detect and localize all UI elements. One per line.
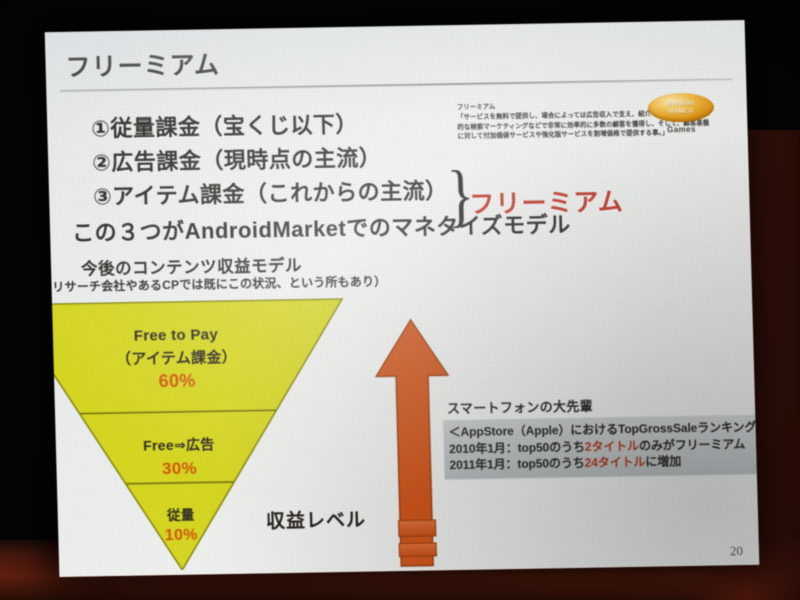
- logo-oval-icon: BANDAI NAMCO: [648, 93, 715, 123]
- bandai-namco-games-logo: BANDAI NAMCO Games: [643, 92, 720, 141]
- revenue-axis-label: 収益レベル: [266, 505, 367, 534]
- freemium-callout: フリーミアム: [469, 182, 624, 221]
- row-2011-suffix: に増加: [645, 454, 681, 469]
- arrow-dash-2: [399, 542, 437, 557]
- logo-subtitle: Games: [643, 124, 719, 134]
- appstore-ranking-box: ＜AppStore（Apple）におけるTopGrossSaleランキング＞ 2…: [443, 415, 759, 479]
- row-2011-prefix: 2011年1月：top50のうち: [449, 456, 584, 472]
- arrow-dash-1: [398, 519, 436, 537]
- bullet-item-3: ③アイテム課金（これからの主流）: [93, 173, 448, 211]
- bullet-item-2: ②広告課金（現時点の主流）: [92, 140, 382, 177]
- logo-line-2: NAMCO: [669, 107, 694, 115]
- page-title: フリーミアム: [65, 45, 220, 84]
- slide-surface: フリーミアム ①従量課金（宝くじ以下） ②広告課金（現時点の主流） ③アイテム課…: [45, 20, 760, 577]
- row-2010-prefix: 2010年1月：top50のうち: [449, 439, 585, 455]
- projected-slide-photo: フリーミアム ①従量課金（宝くじ以下） ②広告課金（現時点の主流） ③アイテム課…: [0, 0, 800, 600]
- smartphone-senpai-label: スマートフォンの大先輩: [447, 396, 593, 418]
- row-2010-suffix: のみがフリーミアム: [639, 437, 746, 453]
- bullet-item-1: ①従量課金（宝くじ以下）: [91, 107, 358, 144]
- row-2010-highlight: 2タイトル: [585, 438, 640, 453]
- row-2011-highlight: 24タイトル: [584, 455, 645, 470]
- page-number: 20: [730, 543, 743, 559]
